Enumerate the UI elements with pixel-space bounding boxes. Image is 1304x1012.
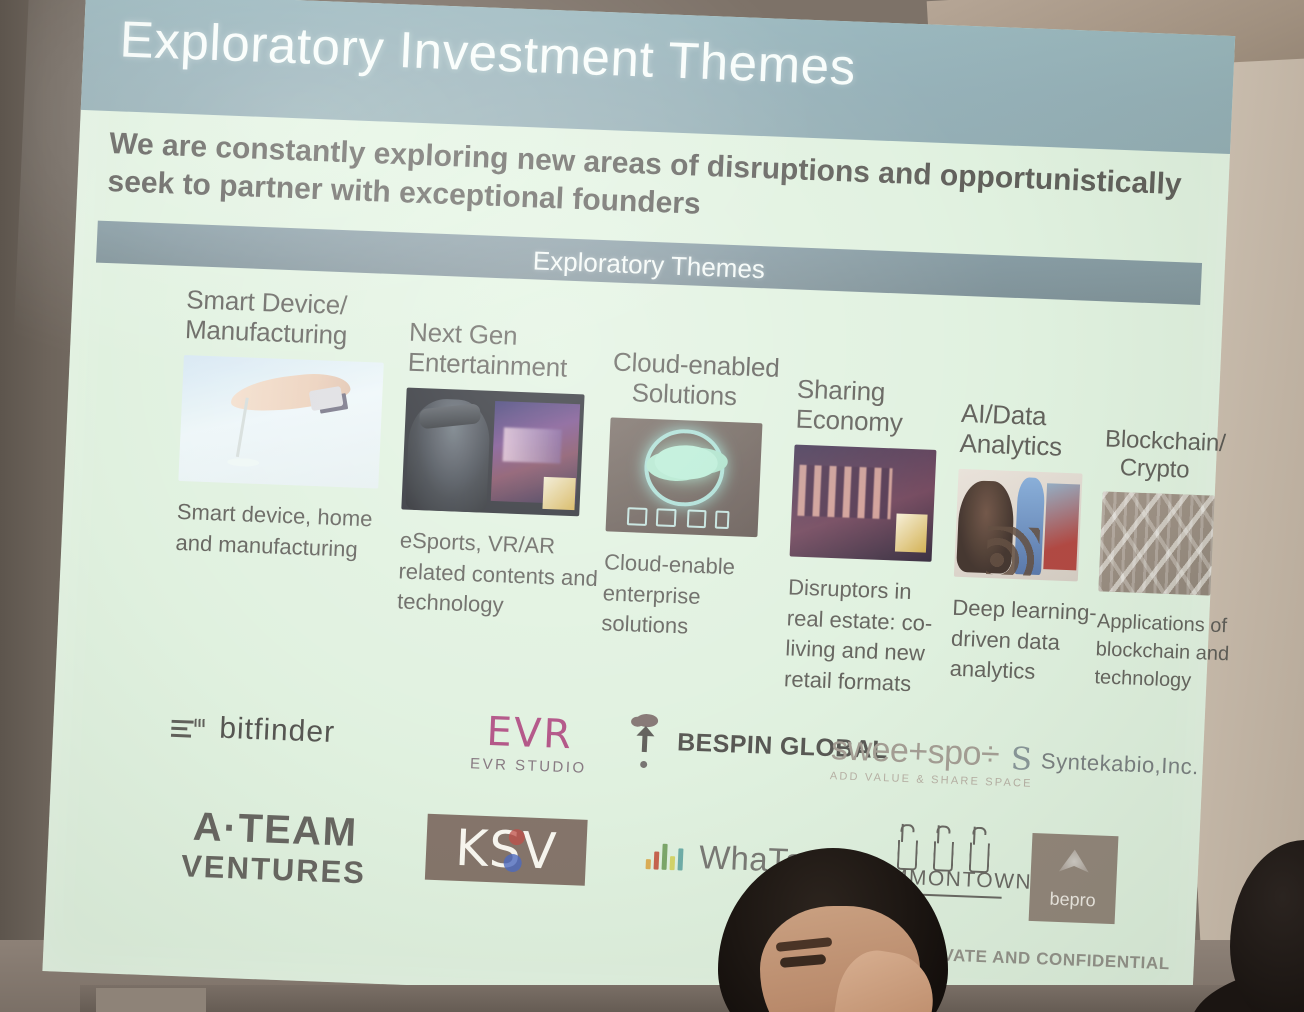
theme-heading: Sharing Economy — [795, 374, 958, 441]
projected-slide: Exploratory Investment Themes We are con… — [42, 0, 1236, 1012]
theme-columns: Smart Device/ Manufacturing Smart device… — [73, 264, 1216, 727]
theme-description: Disruptors in real estate: co-living and… — [783, 572, 948, 701]
theme-heading: AI/Data Analytics — [959, 398, 1112, 465]
theme-image-blockchain-crypto — [1098, 492, 1214, 596]
page-title: Exploratory Investment Themes — [119, 9, 858, 96]
logo-label: EVR STUDIO — [470, 755, 587, 776]
dna-s-icon: S — [1010, 744, 1033, 776]
theme-heading: Blockchain/ Crypto — [1103, 425, 1255, 487]
theme-column-next-gen-entertainment: Next Gen Entertainment eSports, VR/AR re… — [396, 317, 609, 626]
three-geese-icon — [893, 824, 997, 874]
theme-image-ai-data-analytics — [954, 469, 1083, 582]
logo-label: swee+spo÷ — [830, 731, 1000, 771]
theme-description: Deep learning-driven data analytics — [949, 593, 1103, 691]
logo-evr-studio: EVR EVR STUDIO — [470, 711, 589, 776]
logo-label: bitfinder — [219, 712, 336, 750]
logo-bepro: bepro — [1029, 833, 1119, 924]
theme-column-smart-device: Smart Device/ Manufacturing Smart device… — [175, 284, 417, 567]
conference-room-photo: Exploratory Investment Themes We are con… — [0, 0, 1304, 1012]
portfolio-logo-row-2: A·TEAM VENTURES KSV WhaTap — [64, 792, 1193, 945]
theme-column-ai-data-analytics: AI/Data Analytics Deep learning-driven d… — [949, 398, 1112, 691]
confidentiality-footer: PRIVATE AND CONFIDENTIAL — [912, 944, 1170, 974]
theme-column-cloud-enabled: Cloud-enabled Solutions Cloud-enable ent… — [601, 347, 796, 647]
theme-image-cloud-enabled — [606, 417, 763, 537]
theme-heading: Smart Device/ Manufacturing — [184, 284, 417, 354]
theme-description: Cloud-enable enterprise solutions — [601, 547, 787, 646]
theme-description: eSports, VR/AR related contents and tech… — [396, 525, 600, 625]
logo-a-team-ventures: A·TEAM VENTURES — [180, 806, 368, 891]
foreground-desk — [80, 985, 1304, 1012]
theme-image-smart-device — [178, 355, 383, 489]
theme-description: Smart device, home and manufacturing — [175, 497, 408, 567]
logo-label: A·TEAM — [192, 807, 358, 853]
theme-column-blockchain-crypto: Blockchain/ Crypto Applications of block… — [1094, 425, 1256, 697]
logo-sublabel: VENTURES — [180, 848, 366, 891]
logo-label: bepro — [1049, 889, 1096, 912]
cloud-arrow-icon — [630, 713, 666, 768]
theme-column-sharing-economy: Sharing Economy Disruptors in real estat… — [783, 374, 957, 702]
bitfinder-bars-icon — [171, 716, 206, 739]
logo-bitfinder: bitfinder — [171, 710, 336, 750]
bar-chart-icon — [646, 841, 687, 871]
logo-sweetspot: swee+spo÷ ADD VALUE & SHARE SPACE — [830, 731, 1035, 790]
theme-description: Applications of blockchain and technolog… — [1094, 607, 1248, 697]
theme-heading: Next Gen Entertainment — [407, 317, 610, 385]
logo-syntekabio: S Syntekabio,Inc. — [1010, 744, 1199, 782]
evr-wordmark: EVR — [486, 712, 574, 755]
logo-label: Syntekabio,Inc. — [1040, 748, 1199, 780]
logo-label: KSV — [454, 823, 558, 877]
theme-heading: Cloud-enabled Solutions — [611, 347, 796, 415]
theme-image-sharing-economy — [790, 444, 937, 561]
theme-image-next-gen-entertainment — [401, 387, 584, 516]
logo-tagline: ADD VALUE & SHARE SPACE — [830, 770, 1033, 790]
bepro-arrow-icon — [1059, 849, 1090, 880]
wall-panel-bottom-left — [96, 988, 206, 1012]
logo-ksv: KSV — [425, 814, 588, 886]
